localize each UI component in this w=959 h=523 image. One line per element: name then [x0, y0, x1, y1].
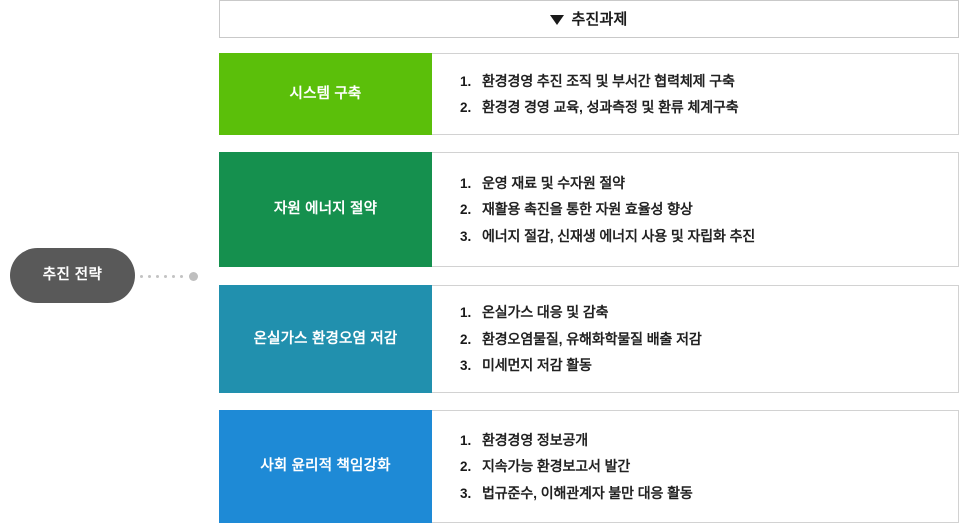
strategy-row: 온실가스 환경오염 저감1.온실가스 대응 및 감축2.환경오염물질, 유해화학… [219, 285, 959, 393]
task-text: 환경오염물질, 유해화학물질 배출 저감 [482, 332, 702, 346]
row-category-label: 시스템 구축 [290, 85, 362, 103]
task-item: 2.환경오염물질, 유해화학물질 배출 저감 [460, 326, 958, 353]
task-item: 1.환경경영 추진 조직 및 부서간 협력체제 구축 [460, 68, 958, 95]
task-text: 운영 재료 및 수자원 절약 [482, 176, 625, 190]
row-category-block[interactable]: 사회 윤리적 책임강화 [219, 410, 432, 523]
task-item: 2.재활용 촉진을 통한 자원 효율성 향상 [460, 196, 958, 223]
row-task-list: 1.운영 재료 및 수자원 절약2.재활용 촉진을 통한 자원 효율성 향상3.… [432, 152, 959, 267]
dotted-connector [140, 268, 202, 284]
connector-dot [148, 275, 151, 278]
task-item: 1.환경경영 정보공개 [460, 427, 958, 454]
task-number: 2. [460, 460, 482, 474]
row-category-block[interactable]: 온실가스 환경오염 저감 [219, 285, 432, 393]
connector-dot [164, 275, 167, 278]
task-number: 3. [460, 230, 482, 244]
task-number: 3. [460, 359, 482, 373]
task-item: 3.에너지 절감, 신재생 에너지 사용 및 자립화 추진 [460, 223, 958, 250]
task-item: 3.법규준수, 이해관계자 불만 대응 활동 [460, 480, 958, 507]
task-text: 재활용 촉진을 통한 자원 효율성 향상 [482, 202, 693, 216]
row-category-block[interactable]: 자원 에너지 절약 [219, 152, 432, 267]
connector-dot [180, 275, 183, 278]
task-number: 1. [460, 177, 482, 191]
task-text: 미세먼지 저감 활동 [482, 358, 592, 372]
task-number: 2. [460, 203, 482, 217]
row-category-label: 사회 윤리적 책임강화 [260, 457, 390, 475]
task-number: 1. [460, 306, 482, 320]
strategy-row: 자원 에너지 절약1.운영 재료 및 수자원 절약2.재활용 촉진을 통한 자원… [219, 152, 959, 267]
connector-dot [172, 275, 175, 278]
row-task-list: 1.환경경영 추진 조직 및 부서간 협력체제 구축2.환경경 경영 교육, 성… [432, 53, 959, 135]
connector-dot [140, 275, 143, 278]
task-text: 환경경영 정보공개 [482, 433, 588, 447]
task-header-title: 추진과제 [571, 12, 627, 27]
task-text: 환경경영 추진 조직 및 부서간 협력체제 구축 [482, 74, 735, 88]
task-text: 지속가능 환경보고서 발간 [482, 459, 630, 473]
row-task-list: 1.온실가스 대응 및 감축2.환경오염물질, 유해화학물질 배출 저감3.미세… [432, 285, 959, 393]
strategy-pill-label: 추진 전략 [43, 268, 102, 283]
caret-down-icon [550, 15, 564, 25]
task-header-inner: 추진과제 [550, 12, 627, 27]
task-text: 온실가스 대응 및 감축 [482, 305, 608, 319]
connector-end-dot [189, 272, 198, 281]
task-number: 1. [460, 434, 482, 448]
connector-dot [156, 275, 159, 278]
task-item: 3.미세먼지 저감 활동 [460, 352, 958, 379]
task-text: 에너지 절감, 신재생 에너지 사용 및 자립화 추진 [482, 229, 755, 243]
task-text: 법규준수, 이해관계자 불만 대응 활동 [482, 486, 693, 500]
task-item: 1.온실가스 대응 및 감축 [460, 299, 958, 326]
row-category-label: 온실가스 환경오염 저감 [254, 330, 398, 348]
task-item: 2.지속가능 환경보고서 발간 [460, 453, 958, 480]
strategy-pill: 추진 전략 [10, 248, 135, 303]
row-task-list: 1.환경경영 정보공개2.지속가능 환경보고서 발간3.법규준수, 이해관계자 … [432, 410, 959, 523]
strategy-task-diagram: 추진 전략 추진과제 시스템 구축1.환경경영 추진 조직 및 부서간 협력체제… [0, 0, 959, 523]
task-item: 1.운영 재료 및 수자원 절약 [460, 170, 958, 197]
task-item: 2.환경경 경영 교육, 성과측정 및 환류 체계구축 [460, 94, 958, 121]
strategy-row: 사회 윤리적 책임강화1.환경경영 정보공개2.지속가능 환경보고서 발간3.법… [219, 410, 959, 523]
task-header: 추진과제 [219, 0, 959, 38]
task-text: 환경경 경영 교육, 성과측정 및 환류 체계구축 [482, 100, 739, 114]
task-number: 3. [460, 487, 482, 501]
strategy-row: 시스템 구축1.환경경영 추진 조직 및 부서간 협력체제 구축2.환경경 경영… [219, 53, 959, 135]
task-number: 2. [460, 333, 482, 347]
row-category-block[interactable]: 시스템 구축 [219, 53, 432, 135]
task-number: 2. [460, 101, 482, 115]
row-category-label: 자원 에너지 절약 [274, 200, 377, 218]
task-number: 1. [460, 75, 482, 89]
